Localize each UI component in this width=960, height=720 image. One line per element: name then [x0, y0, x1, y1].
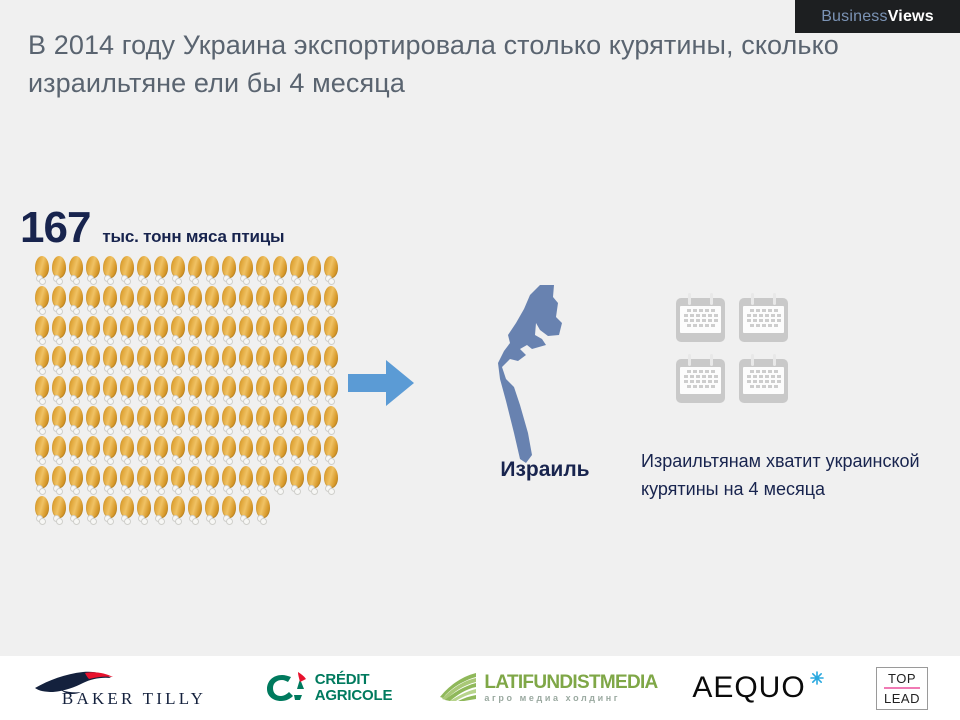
chicken-drumstick-icon — [68, 466, 85, 496]
chicken-drumstick-icon — [119, 316, 136, 346]
chicken-drumstick-icon — [68, 436, 85, 466]
calendar-icon — [739, 293, 788, 342]
chicken-drumstick-icon — [68, 316, 85, 346]
chicken-drumstick-icon — [119, 256, 136, 286]
chicken-drumstick-icon — [85, 496, 102, 526]
chicken-drumstick-icon — [68, 496, 85, 526]
chicken-drumstick-icon — [153, 256, 170, 286]
chicken-drumstick-icon — [323, 406, 340, 436]
chicken-drumstick-icon — [136, 346, 153, 376]
chicken-drumstick-icon — [221, 376, 238, 406]
chicken-drumstick-icon — [102, 376, 119, 406]
chicken-drumstick-icon — [51, 256, 68, 286]
chicken-drumstick-icon — [272, 316, 289, 346]
chicken-drumstick-icon — [323, 256, 340, 286]
chicken-drumstick-icon — [238, 286, 255, 316]
chicken-drumstick-icon — [85, 406, 102, 436]
chicken-drumstick-icon — [289, 466, 306, 496]
chicken-drumstick-icon — [306, 316, 323, 346]
chicken-drumstick-icon — [85, 436, 102, 466]
chicken-drumstick-icon — [187, 496, 204, 526]
chicken-drumstick-icon — [204, 346, 221, 376]
chicken-drumstick-icon — [153, 406, 170, 436]
logo-latifundist-media: LATIFUNDISTMEDIA агро медиа холдинг — [424, 656, 672, 720]
chicken-drumstick-icon — [289, 436, 306, 466]
chicken-drumstick-icon — [119, 436, 136, 466]
top-lead-line2: LEAD — [884, 689, 920, 705]
chicken-drumstick-icon — [136, 466, 153, 496]
chicken-drumstick-icon — [51, 496, 68, 526]
latifundist-field-icon — [438, 671, 478, 706]
chicken-drumstick-icon — [85, 466, 102, 496]
chicken-drumstick-icon — [323, 286, 340, 316]
chicken-drumstick-icon — [85, 256, 102, 286]
chicken-drumstick-icon — [204, 256, 221, 286]
aequo-text: AEQUO — [692, 673, 805, 703]
chicken-drumstick-icon — [306, 286, 323, 316]
chicken-drumstick-icon — [289, 346, 306, 376]
chicken-drumstick-icon — [170, 496, 187, 526]
chicken-drumstick-icon — [153, 376, 170, 406]
chicken-drumstick-icon — [170, 316, 187, 346]
chicken-drumstick-icon — [221, 346, 238, 376]
chicken-drumstick-icon — [323, 316, 340, 346]
chicken-drumstick-icon — [289, 376, 306, 406]
chicken-drumstick-icon — [170, 436, 187, 466]
chicken-drumstick-icon — [204, 466, 221, 496]
chicken-drumstick-icon — [119, 466, 136, 496]
infographic-slide: BusinessViews В 2014 году Украина экспор… — [0, 0, 960, 720]
chicken-drumstick-icon — [255, 346, 272, 376]
chicken-drumstick-icon — [102, 406, 119, 436]
calendar-icon — [739, 354, 788, 403]
chicken-drumstick-icon — [238, 316, 255, 346]
chicken-drumstick-icon — [221, 286, 238, 316]
chicken-drumstick-icon — [187, 466, 204, 496]
israel-label: Израиль — [470, 458, 620, 482]
credit-agricole-mark-icon — [264, 669, 308, 708]
chicken-drumstick-icon — [34, 376, 51, 406]
chicken-drumstick-icon — [289, 286, 306, 316]
chicken-drumstick-icon — [289, 316, 306, 346]
chicken-drumstick-icon — [170, 406, 187, 436]
chicken-drumstick-icon — [306, 376, 323, 406]
chicken-drumstick-icon — [68, 376, 85, 406]
chicken-drumstick-icon — [306, 346, 323, 376]
chicken-drumstick-icon — [272, 436, 289, 466]
chicken-drumstick-icon — [187, 316, 204, 346]
chicken-drumstick-icon — [136, 376, 153, 406]
chicken-drumstick-icon — [221, 436, 238, 466]
chicken-drumstick-icon — [170, 376, 187, 406]
chicken-drumstick-icon — [255, 496, 272, 526]
chicken-drumstick-icon — [85, 316, 102, 346]
chicken-drumstick-icon — [323, 436, 340, 466]
chicken-drumstick-icon — [136, 496, 153, 526]
stat-number: 167 — [20, 206, 90, 250]
chicken-drumstick-icon — [323, 466, 340, 496]
chicken-drumstick-icon — [221, 496, 238, 526]
chicken-drumstick-icon — [306, 466, 323, 496]
chicken-drumstick-icon — [238, 346, 255, 376]
brand-business-text: Business — [821, 8, 888, 26]
chicken-drumstick-icon — [221, 316, 238, 346]
logo-credit-agricole: CRÉDIT AGRICOLE — [232, 656, 424, 720]
chicken-drumstick-icon — [255, 256, 272, 286]
chicken-drumstick-icon — [34, 496, 51, 526]
chicken-drumstick-icon — [153, 496, 170, 526]
chicken-drumstick-icon — [238, 496, 255, 526]
chicken-drumstick-icon — [153, 286, 170, 316]
right-arrow-icon — [348, 360, 414, 411]
chicken-drumstick-icon — [221, 406, 238, 436]
chicken-drumstick-icon — [272, 346, 289, 376]
chicken-drumstick-icon — [68, 346, 85, 376]
calendar-icon-group — [676, 293, 788, 403]
chicken-drumstick-icon — [272, 376, 289, 406]
sponsor-footer: BAKER TILLY CRÉDIT AGRICOLE — [0, 656, 960, 720]
side-note-text: Израильтянам хватит украинской курятины … — [641, 447, 931, 503]
chicken-drumstick-icon — [272, 466, 289, 496]
page-title: В 2014 году Украина экспортировала столь… — [28, 26, 858, 102]
chicken-drumstick-icon — [51, 376, 68, 406]
chicken-drumstick-icon — [34, 406, 51, 436]
stat-caption: тыс. тонн мяса птицы — [102, 228, 284, 245]
chicken-drumstick-icon — [170, 346, 187, 376]
chicken-drumstick-icon — [255, 316, 272, 346]
chicken-drumstick-icon — [187, 286, 204, 316]
chicken-drumstick-icon — [34, 466, 51, 496]
chicken-drumstick-icon — [272, 286, 289, 316]
chicken-drumstick-icon — [238, 436, 255, 466]
chicken-drumstick-icon — [34, 316, 51, 346]
calendar-icon — [676, 354, 725, 403]
chicken-drumstick-icon — [153, 316, 170, 346]
chicken-drumstick-icon — [238, 406, 255, 436]
chicken-drumstick-icon — [68, 286, 85, 316]
chicken-drumstick-icon — [221, 466, 238, 496]
chicken-drumstick-icon — [136, 256, 153, 286]
chicken-drumstick-icon — [204, 376, 221, 406]
chicken-drumstick-icon — [255, 406, 272, 436]
chicken-drumstick-icon — [85, 286, 102, 316]
chicken-drumstick-icon — [51, 406, 68, 436]
chicken-drumstick-icon — [119, 406, 136, 436]
chicken-drumstick-icon — [187, 346, 204, 376]
chicken-drumstick-icon — [136, 316, 153, 346]
chicken-drumstick-icon — [204, 436, 221, 466]
chicken-drumstick-icon — [153, 436, 170, 466]
chicken-drumstick-icon — [34, 346, 51, 376]
top-lead-line1: TOP — [884, 672, 920, 689]
aequo-snowflake-icon — [810, 671, 824, 690]
chicken-drumstick-icon — [102, 316, 119, 346]
chicken-drumstick-icon — [187, 376, 204, 406]
chicken-drumstick-icon — [153, 346, 170, 376]
latifundist-name: LATIFUNDISTMEDIA — [484, 673, 657, 692]
chicken-drumstick-icon — [51, 436, 68, 466]
brand-views-text: Views — [888, 8, 934, 26]
chicken-drumstick-icon — [221, 256, 238, 286]
chicken-drumstick-icon — [323, 346, 340, 376]
credit-agricole-line1: CRÉDIT — [315, 672, 393, 688]
logo-top-lead: TOP LEAD — [844, 656, 960, 720]
chicken-drumstick-icon — [204, 406, 221, 436]
chicken-drumstick-icon — [51, 346, 68, 376]
chicken-drumstick-icon — [289, 256, 306, 286]
logo-baker-tilly: BAKER TILLY — [0, 656, 232, 720]
chicken-drumstick-icon — [34, 256, 51, 286]
chicken-drumstick-icon — [272, 256, 289, 286]
chicken-drumstick-icon — [238, 376, 255, 406]
chicken-drumstick-icon — [187, 256, 204, 286]
credit-agricole-line2: AGRICOLE — [315, 688, 393, 704]
chicken-drumstick-icon — [204, 316, 221, 346]
chicken-drumstick-icon — [238, 466, 255, 496]
chicken-drumstick-icon — [51, 316, 68, 346]
chicken-drumstick-icon — [119, 286, 136, 316]
chicken-drumstick-icon — [255, 466, 272, 496]
chicken-drumstick-icon — [51, 286, 68, 316]
chicken-drumstick-icon — [119, 496, 136, 526]
chicken-drumstick-icon — [306, 436, 323, 466]
chicken-drumstick-icon — [102, 286, 119, 316]
chicken-drumstick-icon — [255, 436, 272, 466]
chicken-drumstick-icon — [34, 286, 51, 316]
chicken-drumstick-icon — [255, 376, 272, 406]
chicken-drumstick-icon — [68, 256, 85, 286]
chicken-drumstick-icon — [85, 346, 102, 376]
chicken-drumstick-icon — [187, 436, 204, 466]
chicken-drumstick-icon — [51, 466, 68, 496]
chicken-drumstick-icon — [170, 286, 187, 316]
chicken-drumstick-icon — [289, 406, 306, 436]
chicken-drumstick-icon — [153, 466, 170, 496]
chicken-drumstick-icon — [306, 256, 323, 286]
chicken-drumstick-icon — [102, 436, 119, 466]
baker-tilly-text: BAKER TILLY — [62, 689, 206, 709]
chicken-drumstick-icon — [85, 376, 102, 406]
chicken-drumstick-icon — [204, 496, 221, 526]
chicken-drumstick-icon — [136, 286, 153, 316]
chicken-drumstick-icon — [102, 466, 119, 496]
chicken-drumstick-icon — [170, 466, 187, 496]
chicken-drumstick-icon — [119, 376, 136, 406]
chicken-drumstick-icon — [34, 436, 51, 466]
stat-headline: 167 тыс. тонн мяса птицы — [20, 206, 284, 250]
chicken-drumstick-icon — [272, 406, 289, 436]
chicken-drumstick-icon — [323, 376, 340, 406]
chicken-drumstick-icon — [102, 256, 119, 286]
chicken-drumstick-icon — [306, 406, 323, 436]
chicken-drumstick-icon — [170, 256, 187, 286]
chicken-drumstick-icon — [238, 256, 255, 286]
chicken-drumstick-icon — [136, 406, 153, 436]
chicken-drumstick-icon — [119, 346, 136, 376]
chicken-drumstick-icon — [187, 406, 204, 436]
chicken-drumstick-icon — [102, 496, 119, 526]
chicken-drumstick-icon — [204, 286, 221, 316]
chicken-drumstick-icon — [255, 286, 272, 316]
latifundist-subtitle: агро медиа холдинг — [484, 692, 657, 704]
israel-map-icon — [496, 283, 574, 470]
chicken-drumstick-icon — [136, 436, 153, 466]
logo-aequo: AEQUO — [672, 656, 844, 720]
calendar-icon — [676, 293, 725, 342]
chicken-drumstick-icon — [102, 346, 119, 376]
chicken-pictogram-grid — [34, 256, 344, 526]
chicken-drumstick-icon — [68, 406, 85, 436]
